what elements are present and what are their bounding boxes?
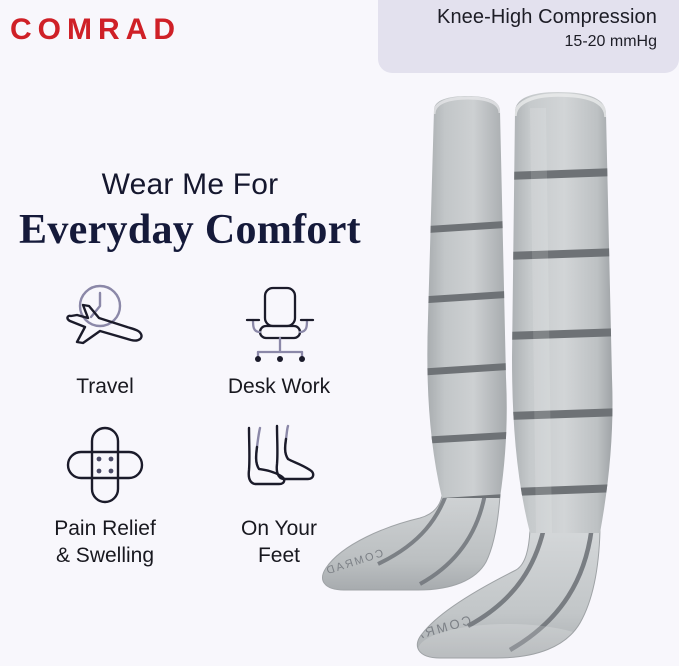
sock-back: COMRAD	[323, 96, 516, 590]
product-photo-socks: COMRAD	[300, 78, 679, 666]
product-marketing-image: COMRAD Knee-High Compression 15-20 mmHg …	[0, 0, 679, 666]
badge-title: Knee-High Compression	[378, 4, 657, 30]
benefit-label: Travel	[76, 374, 134, 400]
airplane-clock-icon	[55, 280, 155, 366]
bandage-cross-icon	[55, 422, 155, 508]
benefit-label: Pain Relief & Swelling	[54, 516, 156, 569]
compression-badge: Knee-High Compression 15-20 mmHg	[378, 0, 679, 73]
benefit-travel: Travel	[18, 280, 192, 400]
brand-logo: COMRAD	[10, 15, 181, 45]
benefit-pain-relief: Pain Relief & Swelling	[18, 422, 192, 569]
badge-subtitle: 15-20 mmHg	[378, 30, 657, 53]
